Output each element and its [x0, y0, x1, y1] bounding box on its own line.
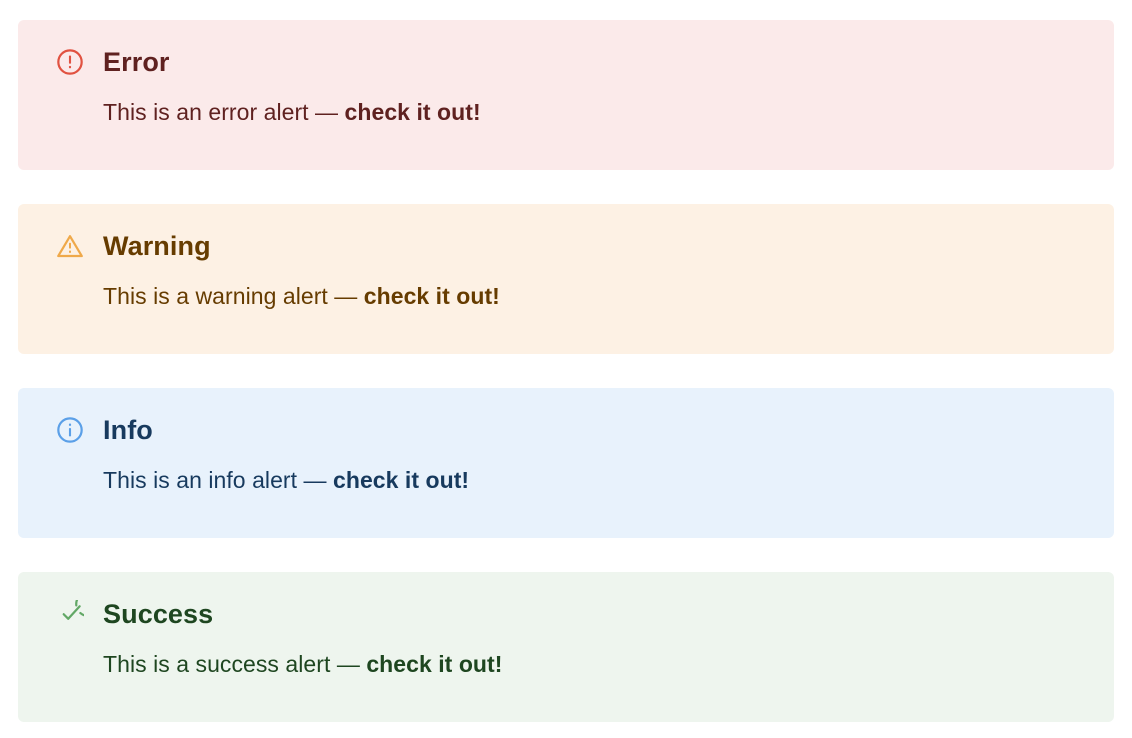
alert-success: Success This is a success alert — check …	[18, 572, 1114, 722]
alert-error-body: This is an error alert — check it out!	[103, 98, 1098, 127]
alert-error-body-emphasis: check it out!	[345, 99, 481, 125]
error-circle-icon	[56, 48, 84, 76]
alert-info-header: Info	[56, 410, 1098, 450]
alert-warning-title: Warning	[103, 233, 211, 260]
check-circle-icon	[56, 600, 84, 628]
alert-warning-body-text: This is a warning alert —	[103, 283, 364, 309]
alert-success-header: Success	[56, 594, 1098, 634]
alert-warning-header: Warning	[56, 226, 1098, 266]
alert-stack: Error This is an error alert — check it …	[0, 0, 1132, 722]
alert-success-body-text: This is a success alert —	[103, 651, 366, 677]
alert-info-title: Info	[103, 417, 153, 444]
alert-warning-body-emphasis: check it out!	[364, 283, 500, 309]
alert-error-header: Error	[56, 42, 1098, 82]
alert-success-body: This is a success alert — check it out!	[103, 650, 1098, 679]
alert-error-body-text: This is an error alert —	[103, 99, 345, 125]
alert-success-body-emphasis: check it out!	[366, 651, 502, 677]
info-circle-icon	[56, 416, 84, 444]
warning-triangle-icon	[56, 232, 84, 260]
alert-warning-body: This is a warning alert — check it out!	[103, 282, 1098, 311]
alert-success-title: Success	[103, 601, 213, 628]
alert-info-body-emphasis: check it out!	[333, 467, 469, 493]
alert-info: Info This is an info alert — check it ou…	[18, 388, 1114, 538]
alert-error: Error This is an error alert — check it …	[18, 20, 1114, 170]
alert-info-body-text: This is an info alert —	[103, 467, 333, 493]
alert-info-body: This is an info alert — check it out!	[103, 466, 1098, 495]
alert-warning: Warning This is a warning alert — check …	[18, 204, 1114, 354]
alert-error-title: Error	[103, 49, 170, 76]
